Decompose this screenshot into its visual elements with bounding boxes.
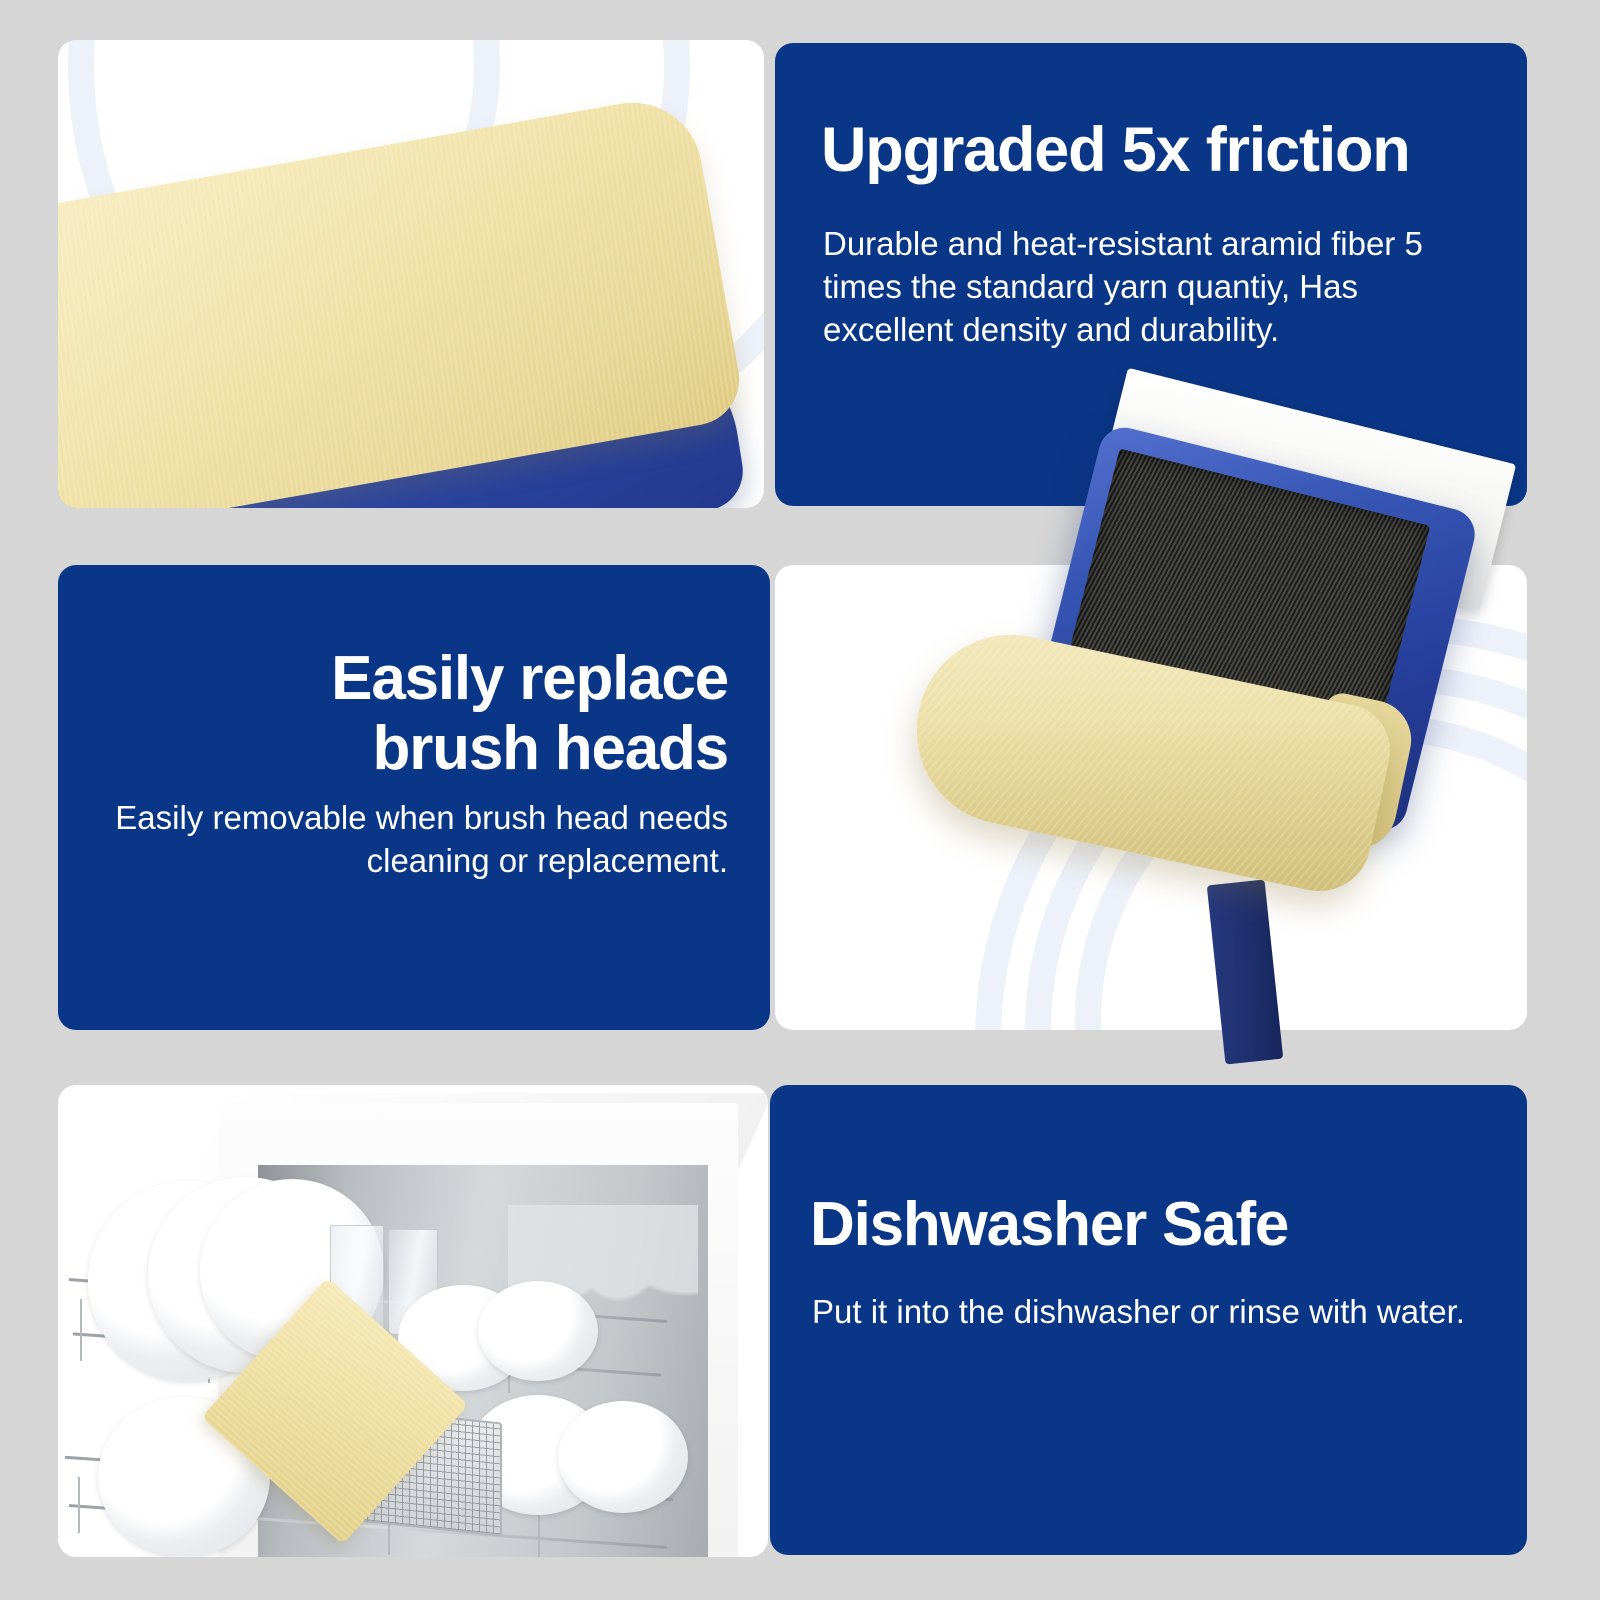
product-photo-dishwasher (58, 1085, 768, 1557)
brush-handle (1207, 879, 1283, 1064)
feature-heading-2-line2: brush heads (88, 717, 728, 780)
bowl (478, 1281, 598, 1381)
upper-rack-wire (80, 1299, 82, 1361)
bowl (558, 1401, 688, 1513)
feature-body-1: Durable and heat-resistant aramid fiber … (823, 223, 1495, 352)
lower-rack-wire (78, 1477, 80, 1533)
feature-card-replace-brush-heads: Easily replace brush heads Easily remova… (58, 565, 770, 1030)
feature-body-2: Easily removable when brush head needs c… (98, 797, 728, 883)
feature-heading-1: Upgraded 5x friction (821, 118, 1481, 182)
infographic-stage: Upgraded 5x friction Durable and heat-re… (0, 0, 1600, 1600)
feature-heading-3: Dishwasher Safe (810, 1193, 1490, 1256)
feature-body-3: Put it into the dishwasher or rinse with… (812, 1291, 1484, 1334)
feature-heading-2-line1: Easily replace (88, 647, 728, 710)
feature-card-dishwasher-safe: Dishwasher Safe Put it into the dishwash… (770, 1085, 1527, 1555)
product-photo-folded-cloth (58, 40, 764, 508)
brush-product-image (1020, 412, 1540, 1037)
